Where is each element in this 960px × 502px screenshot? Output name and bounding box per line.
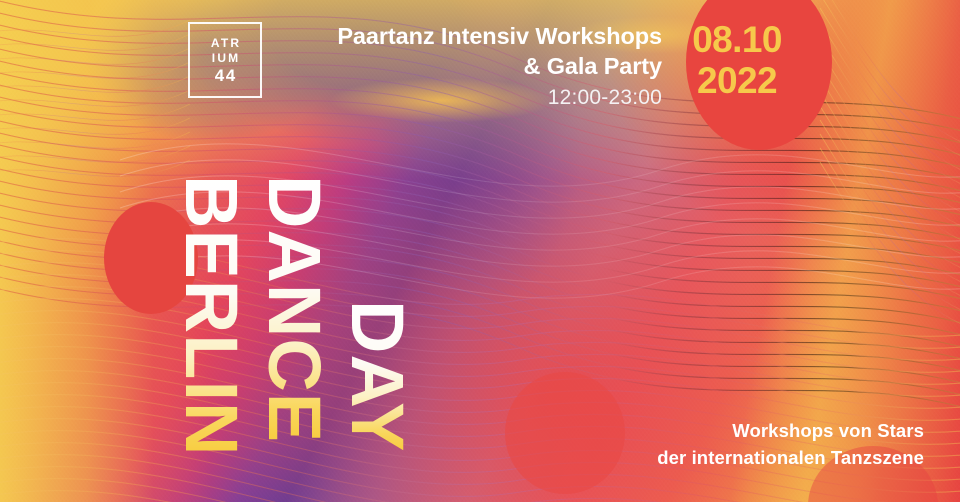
event-date-block: 08.10 2022	[672, 20, 802, 101]
event-poster: ATR IUM 44 Paartanz Intensiv Workshops &…	[0, 0, 960, 502]
footer-line-2: der internationalen Tanzszene	[657, 444, 924, 472]
event-time: 12:00-23:00	[270, 81, 662, 113]
logo-line-2: IUM	[210, 52, 241, 64]
headline-line-2: & Gala Party	[270, 52, 662, 82]
event-date-day: 08.10	[672, 20, 802, 61]
wordmark-berlin: BERLIN	[176, 175, 247, 456]
headline-line-1: Paartanz Intensiv Workshops	[270, 22, 662, 52]
atrium-44-logo[interactable]: ATR IUM 44	[188, 22, 262, 98]
footer-block: Workshops von Stars der internationalen …	[657, 417, 924, 473]
event-date-year: 2022	[672, 61, 802, 102]
logo-line-1: ATR	[209, 37, 242, 49]
logo-number: 44	[213, 67, 236, 84]
bottom-accent-circle	[505, 372, 625, 494]
wordmark-day: DAY	[342, 300, 413, 452]
footer-line-1: Workshops von Stars	[657, 417, 924, 445]
wordmark-dance: DANCE	[259, 175, 330, 443]
headline-block: Paartanz Intensiv Workshops & Gala Party…	[270, 22, 662, 113]
